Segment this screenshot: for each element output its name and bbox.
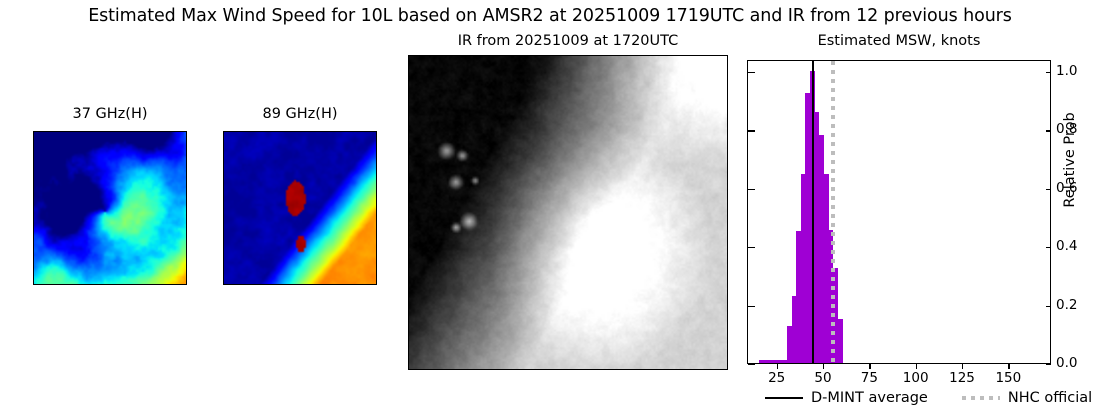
- histogram-marker-dmint-average: [812, 61, 814, 363]
- y-axis-tick: [1046, 189, 1051, 190]
- microwave-89-title: 89 GHz(H): [223, 106, 377, 122]
- dotted-line-icon: [962, 396, 1000, 400]
- histogram-legend: D-MINT average NHC official: [747, 388, 1077, 408]
- microwave-37-image: [33, 131, 187, 285]
- x-axis-tick: [962, 364, 963, 369]
- y-axis-tick-left: [748, 189, 755, 190]
- solid-line-icon: [765, 397, 803, 400]
- y-axis-tick-left: [748, 247, 755, 248]
- legend-label-nhc-official: NHC official: [1008, 390, 1092, 406]
- x-axis-tick-label: 50: [801, 370, 845, 386]
- x-axis-tick-label: 150: [986, 370, 1030, 386]
- y-axis-tick-label: 0.4: [1056, 238, 1096, 254]
- microwave-37-title: 37 GHz(H): [33, 106, 187, 122]
- y-axis-tick: [1046, 306, 1051, 307]
- y-axis-tick-label: 0.0: [1056, 355, 1096, 371]
- x-axis-tick: [916, 364, 917, 369]
- y-axis-tick-label: 0.2: [1056, 297, 1096, 313]
- y-axis-tick-left: [748, 130, 755, 131]
- y-axis-tick: [1046, 247, 1051, 248]
- infrared-title: IR from 20251009 at 1720UTC: [408, 33, 728, 49]
- y-axis-tick-left: [748, 306, 755, 307]
- y-axis-tick: [1046, 130, 1051, 131]
- x-axis-tick: [1008, 364, 1009, 369]
- legend-item-nhc-official: NHC official: [962, 390, 1092, 406]
- x-axis-tick-label: 100: [894, 370, 938, 386]
- x-axis-tick: [777, 364, 778, 369]
- infrared-image: [408, 55, 728, 370]
- legend-item-dmint-average: D-MINT average: [765, 390, 928, 406]
- page-title: Estimated Max Wind Speed for 10L based o…: [0, 6, 1100, 26]
- y-axis-tick-left: [748, 364, 755, 365]
- legend-label-dmint-average: D-MINT average: [811, 390, 928, 406]
- x-axis-tick-label: 75: [847, 370, 891, 386]
- microwave-89-canvas: [224, 132, 376, 284]
- histogram-axes: [747, 60, 1051, 364]
- x-axis-tick-label: 125: [940, 370, 984, 386]
- microwave-37-canvas: [34, 132, 186, 284]
- histogram-y-axis-label: Relative Prob: [1062, 112, 1078, 207]
- histogram-bar: [838, 319, 843, 363]
- y-axis-tick-label: 1.0: [1056, 63, 1096, 79]
- histogram-marker-nhc-official: [831, 61, 835, 363]
- infrared-canvas: [409, 56, 727, 369]
- y-axis-tick: [1046, 364, 1051, 365]
- figure-canvas: Estimated Max Wind Speed for 10L based o…: [0, 0, 1100, 409]
- x-axis-tick: [869, 364, 870, 369]
- y-axis-tick: [1046, 72, 1051, 73]
- microwave-89-image: [223, 131, 377, 285]
- histogram-plot-area: [748, 61, 1050, 363]
- x-axis-tick-label: 25: [755, 370, 799, 386]
- histogram-title: Estimated MSW, knots: [747, 33, 1051, 49]
- y-axis-tick-left: [748, 72, 755, 73]
- x-axis-tick: [823, 364, 824, 369]
